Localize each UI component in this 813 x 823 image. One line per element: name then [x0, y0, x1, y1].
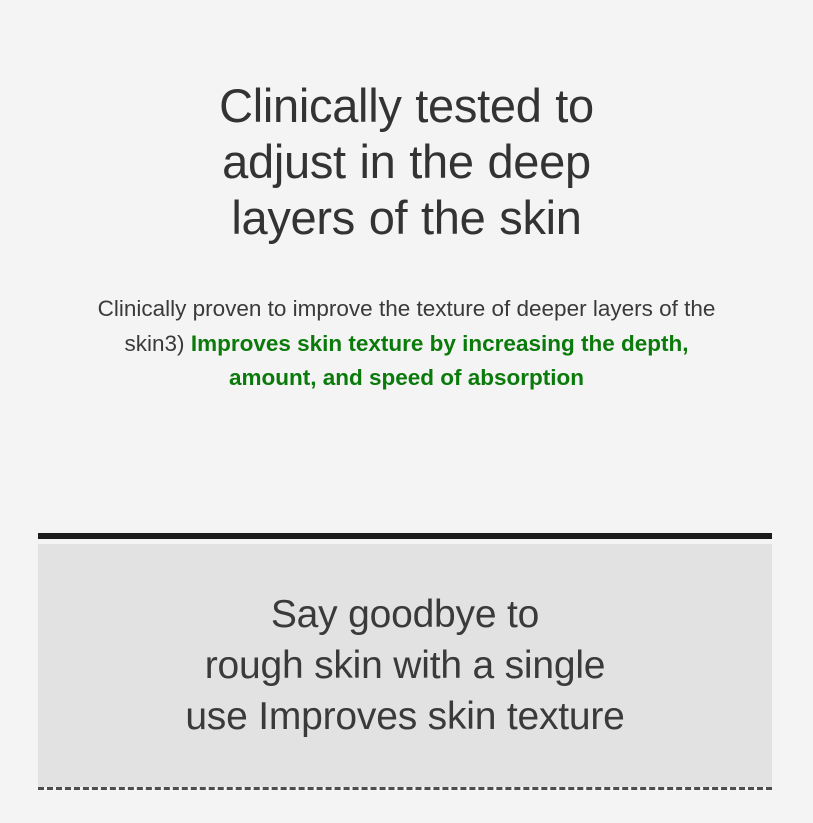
panel-headline-line-1: Say goodbye to [271, 593, 539, 636]
panel-headline-line-3: use Improves skin texture [185, 695, 624, 738]
panel-body: Say goodbye to rough skin with a single … [38, 544, 772, 787]
hero-section: Clinically tested to adjust in the deep … [0, 0, 813, 396]
page-title: Clinically tested to adjust in the deep … [147, 78, 667, 246]
hero-description-highlight: Improves skin texture by increasing the … [191, 331, 689, 391]
hero-description: Clinically proven to improve the texture… [87, 246, 727, 396]
panel-top-rule [38, 533, 772, 539]
panel-headline-line-2: rough skin with a single [205, 644, 606, 687]
page-title-line-3: layers of the skin [231, 191, 581, 244]
page-title-line-1: Clinically tested to [219, 79, 594, 132]
panel-bottom-dashed-rule [38, 787, 772, 790]
panel-headline: Say goodbye to rough skin with a single … [185, 544, 624, 742]
benefit-panel: Say goodbye to rough skin with a single … [38, 533, 772, 790]
promo-page: Clinically tested to adjust in the deep … [0, 0, 813, 823]
page-title-line-2: adjust in the deep [222, 135, 591, 188]
